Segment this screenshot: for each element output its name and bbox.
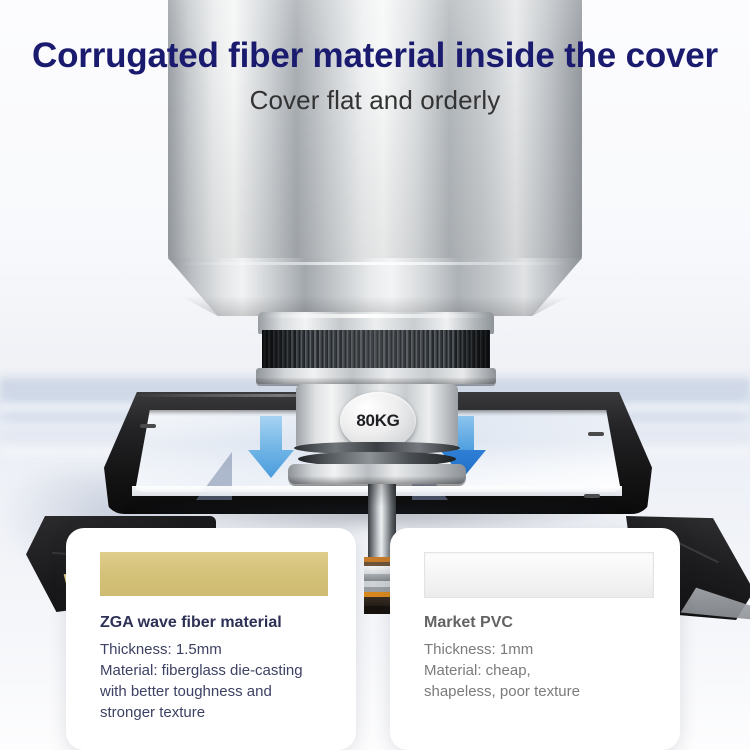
spec-card-line: Material: cheap, [424, 660, 664, 681]
press-machine-highlight [178, 262, 572, 265]
spec-card-body: ZGA wave fiber material Thickness: 1.5mm… [100, 612, 340, 724]
case-notch [140, 424, 156, 428]
press-collar-highlight [262, 314, 490, 318]
spec-card-line: with better toughness and [100, 681, 340, 702]
case-notch [588, 432, 604, 436]
material-swatch-pvc [424, 552, 654, 598]
press-knurled-ring-shade [262, 330, 490, 370]
material-swatch-gold [100, 552, 328, 596]
spec-card-line: Thickness: 1.5mm [100, 639, 340, 660]
arrow-stem [260, 416, 282, 450]
spec-card-zga: ZGA wave fiber material Thickness: 1.5mm… [66, 528, 356, 750]
page-title: Corrugated fiber material inside the cov… [0, 36, 750, 76]
spec-card-pvc: Market PVC Thickness: 1mm Material: chea… [390, 528, 680, 750]
spec-card-title: Market PVC [424, 612, 664, 634]
spec-card-line: shapeless, poor texture [424, 681, 664, 702]
spec-card-body: Market PVC Thickness: 1mm Material: chea… [424, 612, 664, 702]
case-notch [584, 494, 600, 498]
weight-badge-label: 80KG [356, 411, 399, 431]
spec-card-line: stronger texture [100, 702, 340, 723]
page-subtitle: Cover flat and orderly [0, 85, 750, 116]
spec-card-line: Thickness: 1mm [424, 639, 664, 660]
spec-card-line: Material: fiberglass die-casting [100, 660, 340, 681]
product-feature-banner: 80KG Corrugated fiber material inside th… [0, 0, 750, 750]
spec-card-title: ZGA wave fiber material [100, 612, 340, 634]
